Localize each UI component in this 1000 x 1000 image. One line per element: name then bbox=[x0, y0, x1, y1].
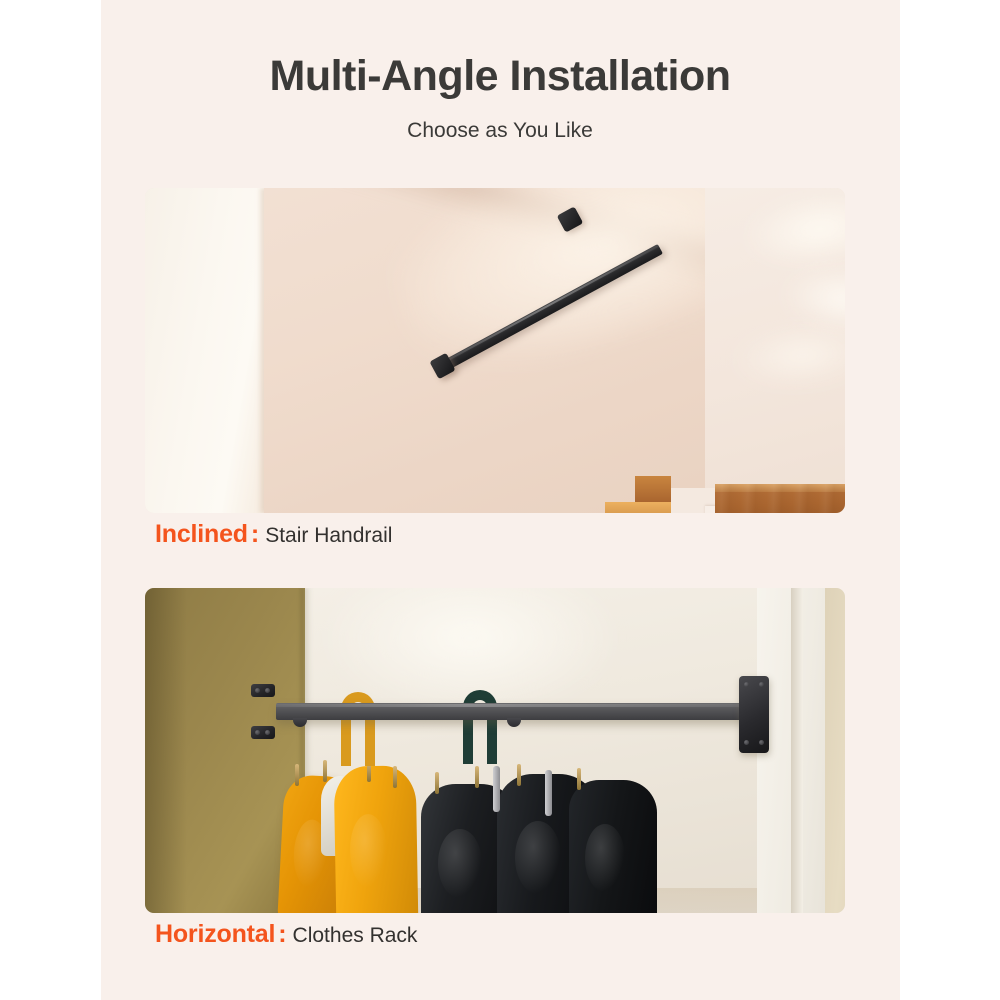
caption-separator: : bbox=[275, 920, 292, 948]
wall-column bbox=[145, 188, 264, 513]
page-title: Multi-Angle Installation bbox=[0, 0, 1000, 101]
umbrella-black bbox=[569, 780, 657, 913]
caption-inclined: Inclined:Stair Handrail bbox=[155, 520, 392, 549]
umbrella-yellow bbox=[334, 765, 419, 913]
stair-handrail-photo bbox=[145, 188, 845, 513]
rail-mount-plate-right bbox=[739, 676, 769, 753]
header: Multi-Angle Installation Choose as You L… bbox=[0, 0, 1000, 143]
clothes-rack-photo bbox=[145, 588, 845, 913]
caption-separator: : bbox=[248, 520, 265, 548]
product-feature-page: Multi-Angle Installation Choose as You L… bbox=[0, 0, 1000, 1000]
olive-wall-shadow bbox=[145, 588, 187, 913]
caption-description: Clothes Rack bbox=[293, 924, 418, 947]
umbrella-tip bbox=[295, 764, 299, 786]
caption-kicker: Horizontal bbox=[155, 920, 275, 948]
upper-landing-block bbox=[635, 476, 671, 502]
umbrella-shaft bbox=[493, 766, 500, 812]
door-jamb bbox=[791, 588, 803, 913]
door-panel bbox=[825, 588, 845, 913]
umbrella-tip bbox=[577, 768, 581, 790]
caption-kicker: Inclined bbox=[155, 520, 248, 548]
caption-description: Stair Handrail bbox=[265, 524, 392, 547]
wooden-step bbox=[715, 484, 845, 513]
umbrella-shaft bbox=[545, 770, 552, 816]
feature-card-horizontal: Horizontal:Clothes Rack bbox=[145, 588, 845, 913]
umbrella-tip bbox=[393, 766, 397, 788]
upper-landing-step bbox=[605, 502, 671, 513]
page-subtitle: Choose as You Like bbox=[0, 101, 1000, 143]
rail-mount-plate-left-lower bbox=[251, 726, 275, 739]
umbrella-tip bbox=[323, 760, 327, 782]
umbrella-tip bbox=[475, 766, 479, 788]
caption-horizontal: Horizontal:Clothes Rack bbox=[155, 920, 417, 949]
sun-patch-3 bbox=[733, 322, 845, 389]
umbrella-hook-teal bbox=[463, 690, 497, 764]
umbrella-tip bbox=[435, 772, 439, 794]
umbrella-tip bbox=[517, 764, 521, 786]
feature-card-inclined: Inclined:Stair Handrail bbox=[145, 188, 845, 513]
rail-mount-plate-left-upper bbox=[251, 684, 275, 697]
